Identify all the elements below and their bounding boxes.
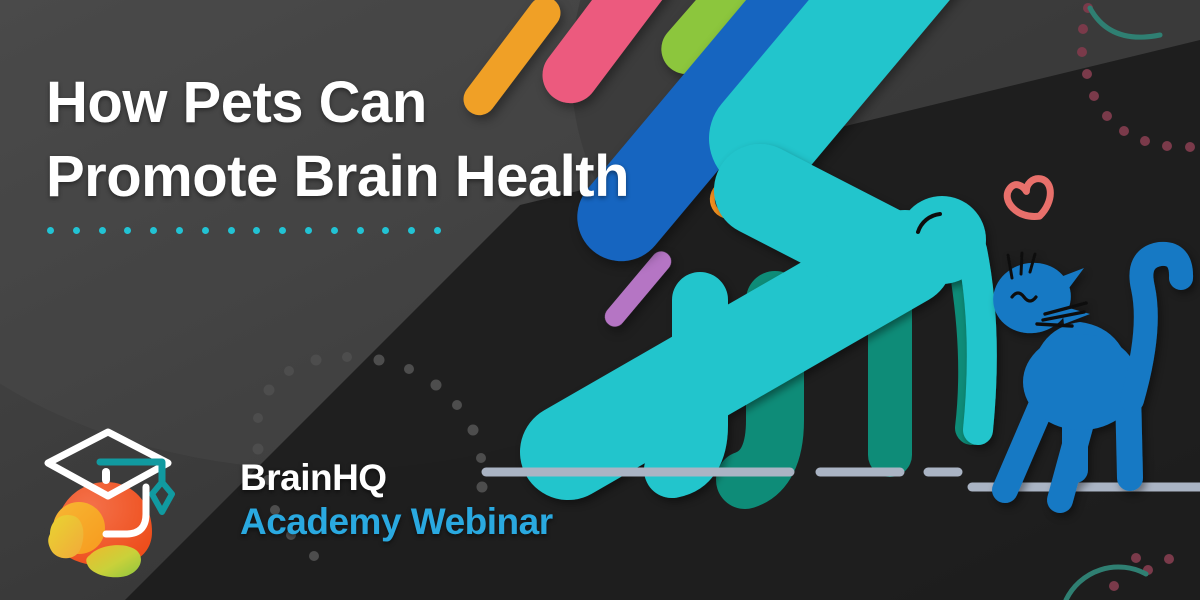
logo-subtitle: Academy Webinar [240,499,553,545]
divider-dot [228,227,235,234]
divider-dot [279,227,286,234]
logo-wordmark: BrainHQ Academy Webinar [240,457,553,551]
cat-belly [1023,334,1139,430]
person-upper-arm [760,190,900,262]
heart-outline-icon [1003,171,1060,226]
page-title: How Pets Can Promote Brain Health [46,66,746,214]
divider-dot [253,227,260,234]
person-reaching-arm [972,250,982,430]
divider-dot [408,227,415,234]
webinar-banner: How Pets Can Promote Brain Health [0,0,1200,600]
cat-figure [987,253,1181,500]
title-line-1: How Pets Can [46,66,746,140]
title-line-2: Promote Brain Health [46,140,746,214]
divider-dot [331,227,338,234]
divider-dot [124,227,131,234]
divider-dot [305,227,312,234]
divider-dot [73,227,80,234]
brainhq-logo-lockup[interactable]: BrainHQ Academy Webinar [34,424,574,584]
divider-dot [382,227,389,234]
divider-dot [176,227,183,234]
divider-dot [357,227,364,234]
tassel-diamond [152,482,172,512]
divider-dot [47,227,54,234]
divider-dot [434,227,441,234]
cap-button [102,468,110,484]
divider-dot [99,227,106,234]
title-divider-dots [47,227,441,234]
divider-dot [202,227,209,234]
divider-dot [150,227,157,234]
cat-tail [1132,254,1181,400]
person-near-leg [672,300,700,470]
graduation-cap-brain-icon [34,424,230,584]
logo-brand-name: BrainHQ [240,457,553,499]
